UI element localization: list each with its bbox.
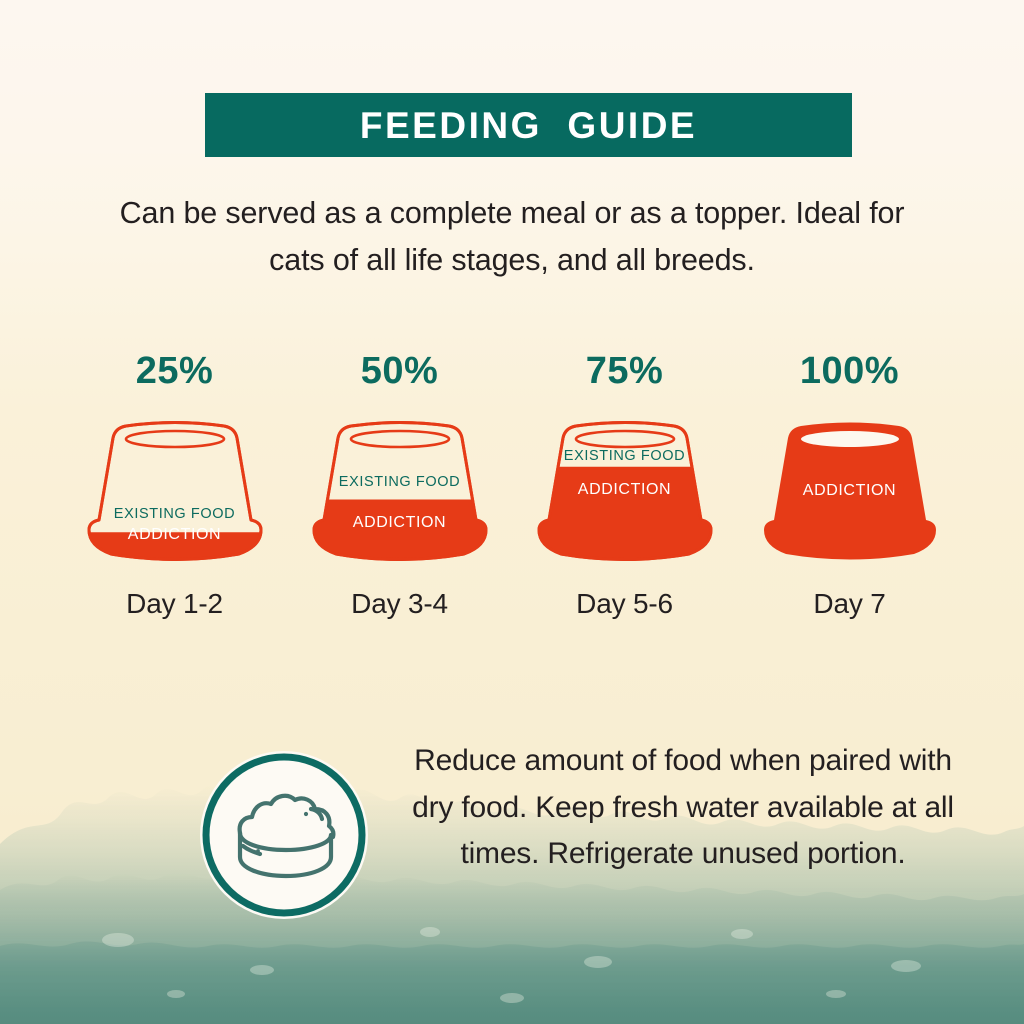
- bowl-figure: EXISTING FOODADDICTION: [75, 414, 275, 567]
- bowl-day-label: Day 1-2: [126, 590, 223, 618]
- footer-description: Reduce amount of food when paired with d…: [408, 738, 958, 878]
- bowl-day-label: Day 5-6: [576, 590, 673, 618]
- bowl-cell: 75%EXISTING FOODADDICTIONDay 5-6: [512, 352, 737, 618]
- bowl-figure: ADDICTION: [750, 414, 950, 567]
- bowl-rim: [801, 431, 899, 447]
- bowl-cell: 25%EXISTING FOODADDICTIONDay 1-2: [62, 352, 287, 618]
- header-banner: FEEDING GUIDE: [205, 93, 852, 157]
- bowl-percent-label: 100%: [800, 352, 899, 392]
- bowl-percent-label: 25%: [136, 352, 214, 392]
- page-title: FEEDING GUIDE: [360, 107, 697, 144]
- bowl-day-label: Day 7: [813, 590, 885, 618]
- bowl-figure: EXISTING FOODADDICTION: [300, 414, 500, 567]
- bowl-cell: 100%ADDICTIONDay 7: [737, 352, 962, 618]
- bowl-percent-label: 50%: [361, 352, 439, 392]
- bowl-percent-label: 75%: [586, 352, 664, 392]
- intro-description: Can be served as a complete meal or as a…: [95, 190, 929, 283]
- food-bowl-icon: [196, 747, 372, 923]
- footer-note: Reduce amount of food when paired with d…: [0, 736, 1024, 936]
- transition-chart: 25%EXISTING FOODADDICTIONDay 1-250%EXIST…: [62, 352, 962, 618]
- bowl-figure: EXISTING FOODADDICTION: [525, 414, 725, 567]
- bowl-cell: 50%EXISTING FOODADDICTIONDay 3-4: [287, 352, 512, 618]
- bowl-day-label: Day 3-4: [351, 590, 448, 618]
